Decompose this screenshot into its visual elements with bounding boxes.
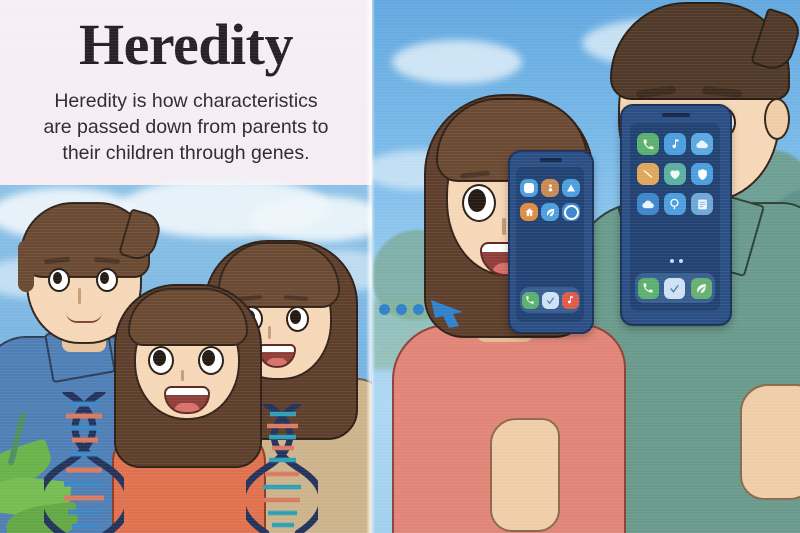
phone-dock: [520, 287, 580, 313]
phone-dock: [635, 273, 715, 303]
phone-notch: [662, 113, 690, 117]
father-nose: [78, 288, 81, 304]
app-icon-mountain[interactable]: [562, 179, 580, 197]
father-mouth: [66, 312, 102, 323]
infographic-root: Heredity Heredity is how characteristics…: [0, 0, 800, 533]
father-pupil-left: [53, 272, 62, 284]
app-icon-home[interactable]: [520, 203, 538, 221]
dock-icon-music-note[interactable]: [562, 292, 579, 309]
app-icon-cloud[interactable]: [691, 133, 713, 155]
inheritance-arrow: [375, 300, 480, 350]
right-daughter-hand: [490, 418, 560, 532]
phone-notch: [540, 158, 562, 162]
mother-pupil-right: [290, 310, 301, 324]
right-father-hand: [740, 384, 800, 500]
dock-icon-checkmark[interactable]: [542, 292, 559, 309]
subtitle-line: Heredity is how characteristics: [6, 88, 366, 114]
daughter-pupil-left: [153, 350, 166, 366]
phone-screen[interactable]: [516, 167, 584, 322]
app-icon-sun[interactable]: [637, 163, 659, 185]
app-icon-leaf[interactable]: [541, 203, 559, 221]
right-father-ear: [764, 98, 790, 140]
right-daughter-pupil-left: [468, 189, 486, 212]
father-phone[interactable]: [620, 104, 732, 326]
panel-divider: [366, 0, 375, 533]
dock-icon-phone[interactable]: [638, 278, 659, 299]
arrow-head-icon: [429, 294, 473, 334]
daughter-nose: [181, 370, 184, 381]
page-subtitle: Heredity is how characteristics are pass…: [6, 88, 366, 166]
left-daughter: [108, 276, 268, 533]
app-icon-music-note[interactable]: [664, 133, 686, 155]
app-icon-phone[interactable]: [637, 133, 659, 155]
arrow-dot: [379, 304, 390, 315]
app-icon-search[interactable]: [664, 193, 686, 215]
dna-helix-left: [44, 392, 124, 533]
right-panel-phones: [372, 0, 800, 533]
father-sideburn: [18, 240, 34, 292]
mother-nose: [268, 326, 271, 339]
subtitle-line: are passed down from parents to: [6, 114, 366, 140]
left-panel-family: Heredity Heredity is how characteristics…: [0, 0, 372, 533]
app-icon-shield[interactable]: [691, 163, 713, 185]
page-title: Heredity: [0, 16, 372, 74]
dock-icon-leaf[interactable]: [691, 278, 712, 299]
app-icon-circle[interactable]: [562, 203, 580, 221]
app-icon-person[interactable]: [541, 179, 559, 197]
app-icon-rounded-square[interactable]: [520, 179, 538, 197]
daughter-pupil-right: [202, 350, 215, 366]
dna-helix-right: [246, 404, 318, 533]
dock-icon-phone[interactable]: [522, 292, 539, 309]
daughter-phone[interactable]: [508, 150, 594, 334]
app-icon-heart[interactable]: [664, 163, 686, 185]
daughter-bangs: [128, 288, 248, 346]
phone-screen[interactable]: [630, 123, 720, 311]
page-dot[interactable]: [670, 259, 674, 263]
arrow-dot: [413, 304, 424, 315]
text-panel: Heredity Heredity is how characteristics…: [0, 0, 372, 200]
dock-icon-checkmark[interactable]: [664, 278, 685, 299]
app-icon-cloud-upload[interactable]: [637, 193, 659, 215]
arrow-dot: [396, 304, 407, 315]
app-icon-notes[interactable]: [691, 193, 713, 215]
page-dot[interactable]: [679, 259, 683, 263]
subtitle-line: their children through genes.: [6, 140, 366, 166]
right-daughter-nose: [502, 218, 506, 235]
